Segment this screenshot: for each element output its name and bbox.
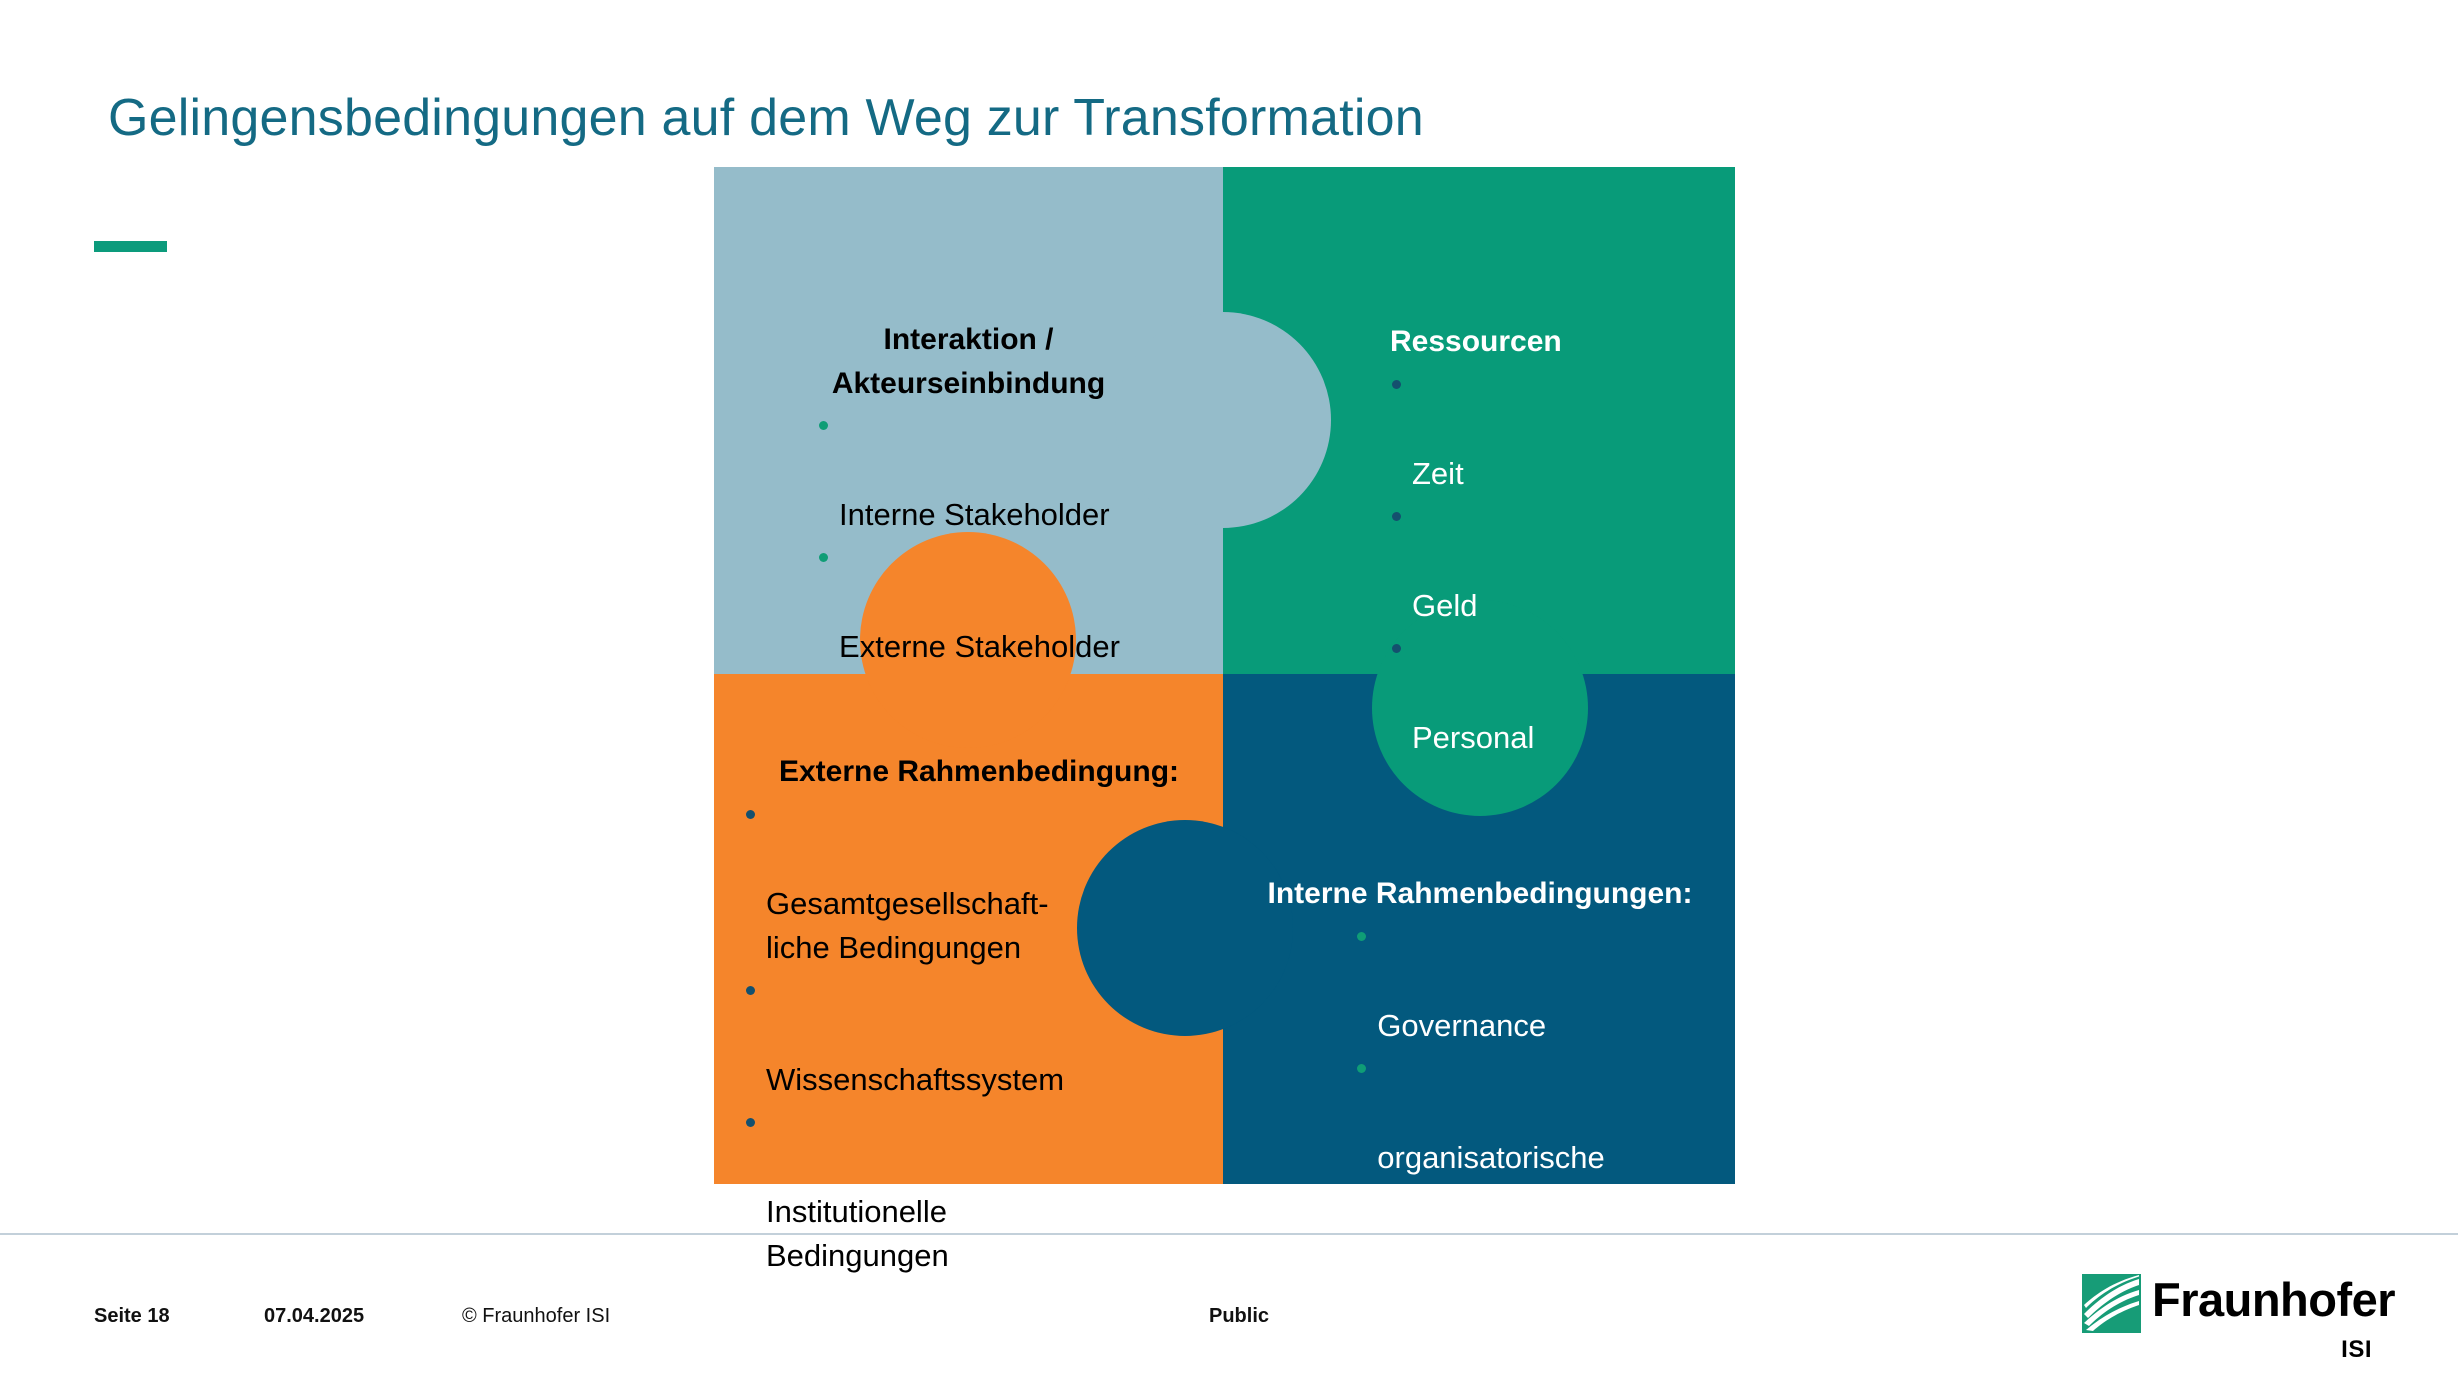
list-item: organisatorische Bedingungen [1355,1048,1604,1224]
puzzle-text-ressourcen: Ressourcen Zeit Geld Personal [1390,320,1710,760]
list-item: Governance [1355,916,1604,1048]
title-accent-dash [94,241,167,252]
piece-list-externe: Gesamtgesellschaft- liche Bedingungen Wi… [744,794,1214,1278]
list-item: Institutionelle Bedingungen [744,1102,1214,1278]
list-item: Gesamtgesellschaft- liche Bedingungen [744,794,1214,970]
puzzle-text-interne-rahmenbedingungen: Interne Rahmenbedingungen: Governance or… [1245,872,1715,1224]
fraunhofer-subbrand: ISI [2341,1336,2372,1364]
puzzle-text-externe-rahmenbedingung: Externe Rahmenbedingung: Gesamtgesellsch… [744,750,1214,1278]
bullet-icon [746,810,755,819]
footer-page-number: Seite 18 [94,1305,170,1328]
piece-heading-interne: Interne Rahmenbedingungen: [1245,872,1715,916]
fraunhofer-logo: Fraunhofer ISI [2082,1274,2372,1364]
bullet-icon [1392,644,1401,653]
piece-list-interaktion: Interne Stakeholder Externe Stakeholder [817,405,1120,669]
bullet-icon [819,553,828,562]
list-item: Interne Stakeholder [817,405,1120,537]
fraunhofer-logo-mark-icon [2082,1274,2141,1333]
piece-list-interne: Governance organisatorische Bedingungen [1355,916,1604,1224]
list-item: Geld [1390,496,1710,628]
footer-divider [0,1233,2458,1235]
page-title: Gelingensbedingungen auf dem Weg zur Tra… [108,88,1424,148]
bullet-icon [1392,380,1401,389]
puzzle-text-interaktion: Interaktion / Akteurseinbindung Interne … [714,318,1223,669]
footer-copyright: © Fraunhofer ISI [462,1305,610,1328]
bullet-icon [1357,1064,1366,1073]
list-item: Zeit [1390,364,1710,496]
piece-heading-ressourcen: Ressourcen [1390,320,1710,364]
piece-heading-externe: Externe Rahmenbedingung: [744,750,1214,794]
bullet-icon [1392,512,1401,521]
footer-classification: Public [1209,1305,1269,1328]
bullet-icon [746,986,755,995]
piece-list-ressourcen: Zeit Geld Personal [1390,364,1710,760]
fraunhofer-wordmark: Fraunhofer [2152,1276,2395,1323]
piece-heading-interaktion: Interaktion / Akteurseinbindung [714,318,1223,405]
list-item: Personal [1390,628,1710,760]
list-item: Externe Stakeholder [817,537,1120,669]
bullet-icon [746,1118,755,1127]
bullet-icon [819,421,828,430]
footer-date: 07.04.2025 [264,1305,364,1328]
bullet-icon [1357,932,1366,941]
list-item: Wissenschaftssystem [744,970,1214,1102]
